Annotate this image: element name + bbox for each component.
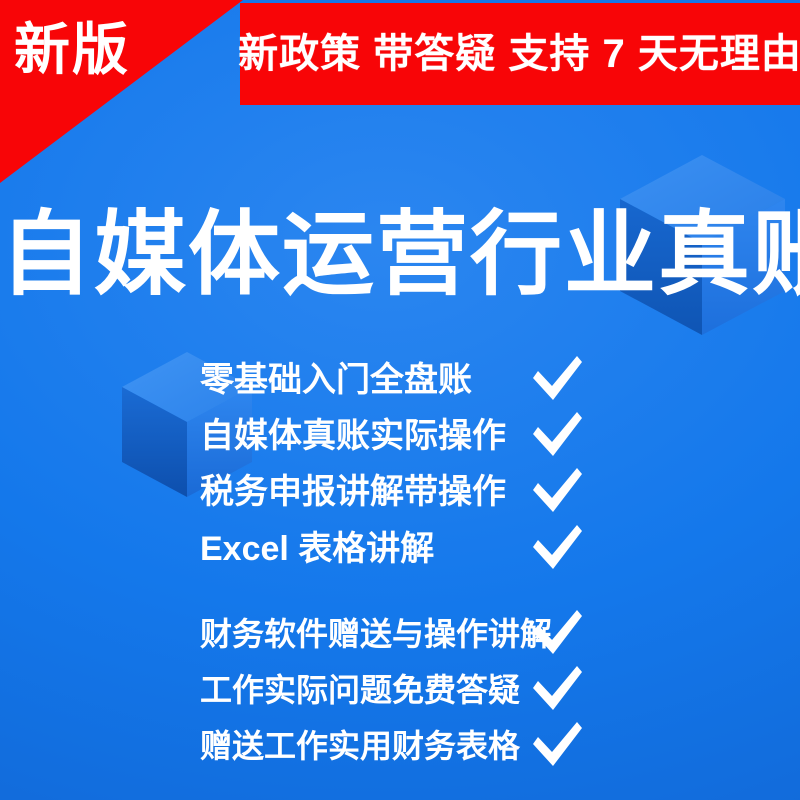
- top-banner: 新政策 带答疑 支持 7 天无理由: [240, 3, 800, 105]
- list-item: 零基础入门全盘账: [200, 352, 620, 408]
- check-icon: [530, 468, 584, 516]
- promo-poster: 新政策 带答疑 支持 7 天无理由 新版 自媒体运营行业真账 零基础入门全盘账 …: [0, 0, 800, 800]
- feature-label: 赠送工作实用财务表格: [200, 730, 520, 762]
- feature-label: 工作实际问题免费答疑: [200, 674, 520, 706]
- list-item: 工作实际问题免费答疑: [200, 662, 620, 718]
- feature-label: 自媒体真账实际操作: [200, 419, 520, 453]
- list-item: Excel 表格讲解: [200, 520, 620, 578]
- feature-label: 税务申报讲解带操作: [200, 475, 520, 509]
- check-icon: [530, 356, 584, 404]
- feature-list: 零基础入门全盘账 自媒体真账实际操作 税务申报讲解带操作 Excel 表格讲解: [200, 352, 620, 774]
- list-item: 财务软件赠送与操作讲解: [200, 606, 620, 662]
- corner-badge-label: 新版: [14, 22, 130, 78]
- top-banner-text: 新政策 带答疑 支持 7 天无理由: [238, 34, 800, 74]
- list-item: 赠送工作实用财务表格: [200, 718, 620, 774]
- check-icon: [530, 412, 584, 460]
- feature-group-primary: 零基础入门全盘账 自媒体真账实际操作 税务申报讲解带操作 Excel 表格讲解: [200, 352, 620, 578]
- feature-label: 零基础入门全盘账: [200, 363, 520, 397]
- corner-badge: 新版: [0, 0, 250, 190]
- check-icon: [530, 610, 584, 658]
- page-title: 自媒体运营行业真账: [0, 204, 800, 307]
- feature-label: Excel 表格讲解: [200, 532, 520, 566]
- check-icon: [530, 666, 584, 714]
- check-icon: [530, 722, 584, 770]
- check-icon: [530, 525, 584, 573]
- list-item: 自媒体真账实际操作: [200, 408, 620, 464]
- feature-label: 财务软件赠送与操作讲解: [200, 618, 520, 650]
- list-item: 税务申报讲解带操作: [200, 464, 620, 520]
- feature-group-secondary: 财务软件赠送与操作讲解 工作实际问题免费答疑 赠送工作实用财务表格: [200, 606, 620, 774]
